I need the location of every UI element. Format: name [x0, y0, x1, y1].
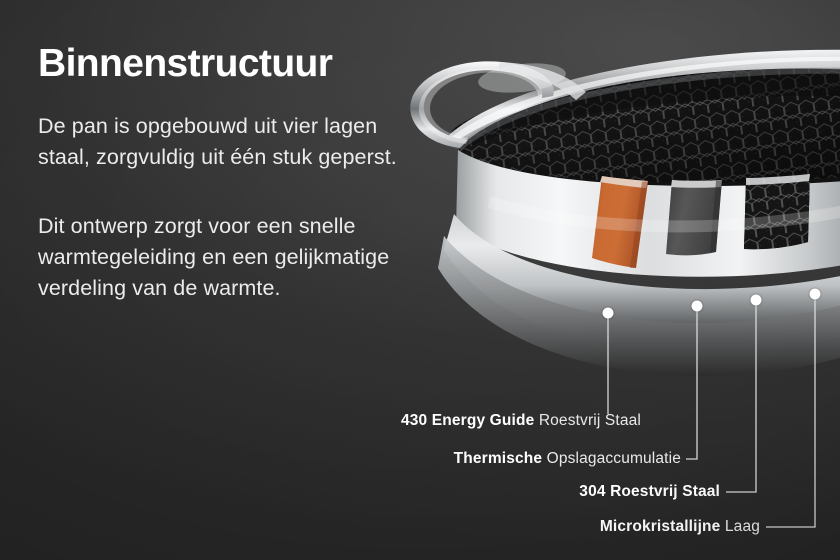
pan-body: [426, 150, 840, 433]
product-illustration: [390, 0, 840, 470]
callout-dot-3[interactable]: [751, 295, 762, 306]
callout-dot-1[interactable]: [603, 308, 614, 319]
slide-root: 430 Energy Guide Roestvrij Staal Thermis…: [0, 0, 840, 560]
callout-label-4-regular: Laag: [720, 518, 760, 535]
callout-label-3-bold: 304 Roestvrij Staal: [579, 483, 720, 500]
callout-label-1: 430 Energy Guide Roestvrij Staal: [401, 412, 641, 430]
body-paragraph-2: Dit ontwerp zorgt voor een snelle warmte…: [38, 211, 398, 304]
callout-dot-2[interactable]: [692, 301, 703, 312]
layer-thermal-core: [666, 180, 722, 255]
page-title: Binnenstructuur: [38, 44, 398, 85]
callout-label-2: Thermische Opslagaccumulatie: [454, 450, 681, 468]
text-column: Binnenstructuur De pan is opgebouwd uit …: [38, 44, 398, 304]
callout-label-2-regular: Opslagaccumulatie: [542, 450, 681, 467]
callout-label-4: Microkristallijne Laag: [600, 518, 760, 536]
callout-label-2-bold: Thermische: [454, 450, 543, 467]
callout-label-4-bold: Microkristallijne: [600, 518, 721, 535]
callout-label-1-bold: 430 Energy Guide: [401, 412, 534, 429]
body-paragraph-1: De pan is opgebouwd uit vier lagen staal…: [38, 111, 398, 173]
callout-label-1-regular: Roestvrij Staal: [534, 412, 641, 429]
callout-dot-4[interactable]: [810, 289, 821, 300]
callout-label-3: 304 Roestvrij Staal: [579, 483, 720, 501]
